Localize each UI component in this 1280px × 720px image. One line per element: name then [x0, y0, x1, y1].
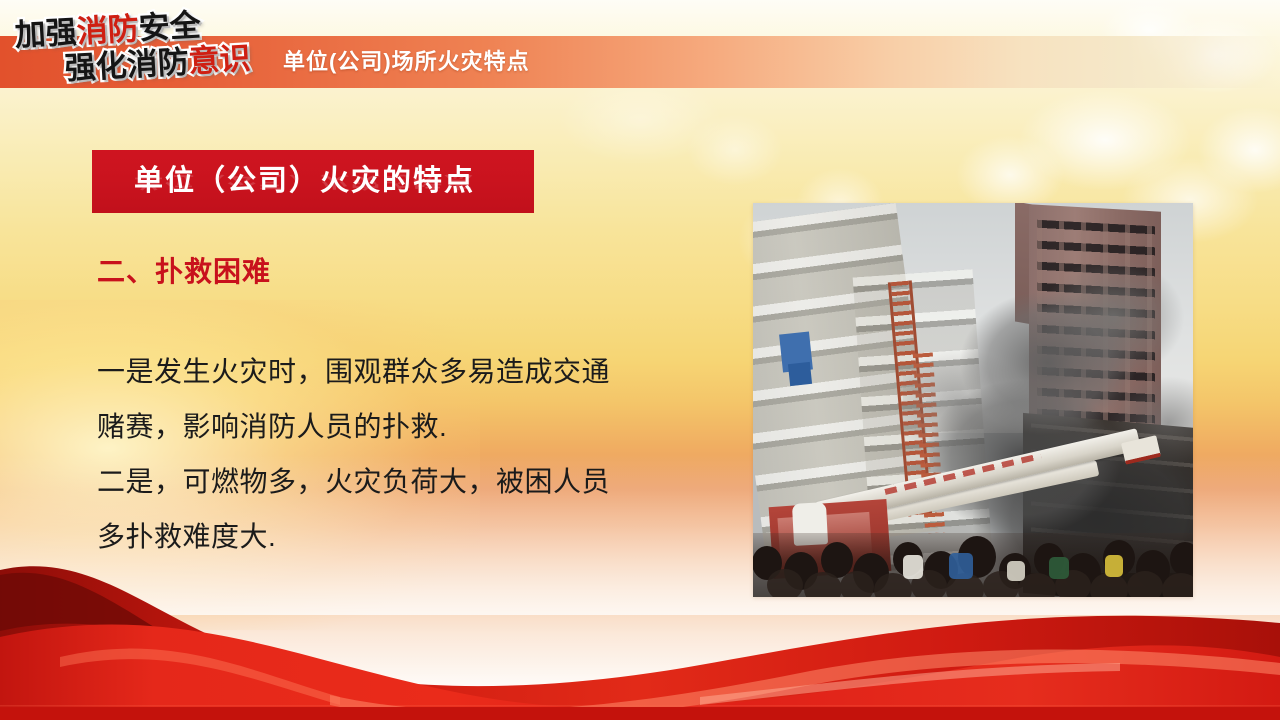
- body-paragraph-line-3: 二是，可燃物多，火灾负荷大，被困人员: [97, 454, 717, 509]
- body-paragraph-line-2: 赌赛，影响消防人员的扑救.: [97, 399, 717, 454]
- logo-line-1-part-3: 安全: [138, 7, 202, 46]
- section-title-text: 单位（公司）火灾的特点: [134, 160, 534, 202]
- ribbon-svg: [0, 545, 1280, 720]
- photo-smoke-plume: [903, 243, 1193, 573]
- ribbon-sheen: [0, 705, 1280, 709]
- logo-line-1-part-2: 消防: [76, 11, 140, 50]
- bottom-red-ribbon: [0, 545, 1280, 720]
- logo-line-1-part-1: 加强: [14, 14, 78, 53]
- logo-line-2-part-2: 意识: [188, 41, 252, 80]
- slide-canvas: 单位(公司)场所火灾特点 加强消防安全 强化消防意识 单位（公司）火灾的特点 单…: [0, 0, 1280, 720]
- header-title: 单位(公司)场所火灾特点: [283, 47, 530, 77]
- fire-scene-photo: [753, 203, 1193, 597]
- campaign-logo: 加强消防安全 强化消防意识: [10, 3, 276, 94]
- logo-line-2-part-1: 强化消防: [64, 44, 190, 87]
- body-paragraph-line-1: 一是发生火灾时，围观群众多易造成交通: [97, 344, 717, 399]
- subheading: 二、扑救困难: [97, 252, 271, 292]
- photo-blue-tarp-2: [788, 362, 812, 386]
- body-copy: 一是发生火灾时，围观群众多易造成交通 赌赛，影响消防人员的扑救. 二是，可燃物多…: [97, 344, 717, 564]
